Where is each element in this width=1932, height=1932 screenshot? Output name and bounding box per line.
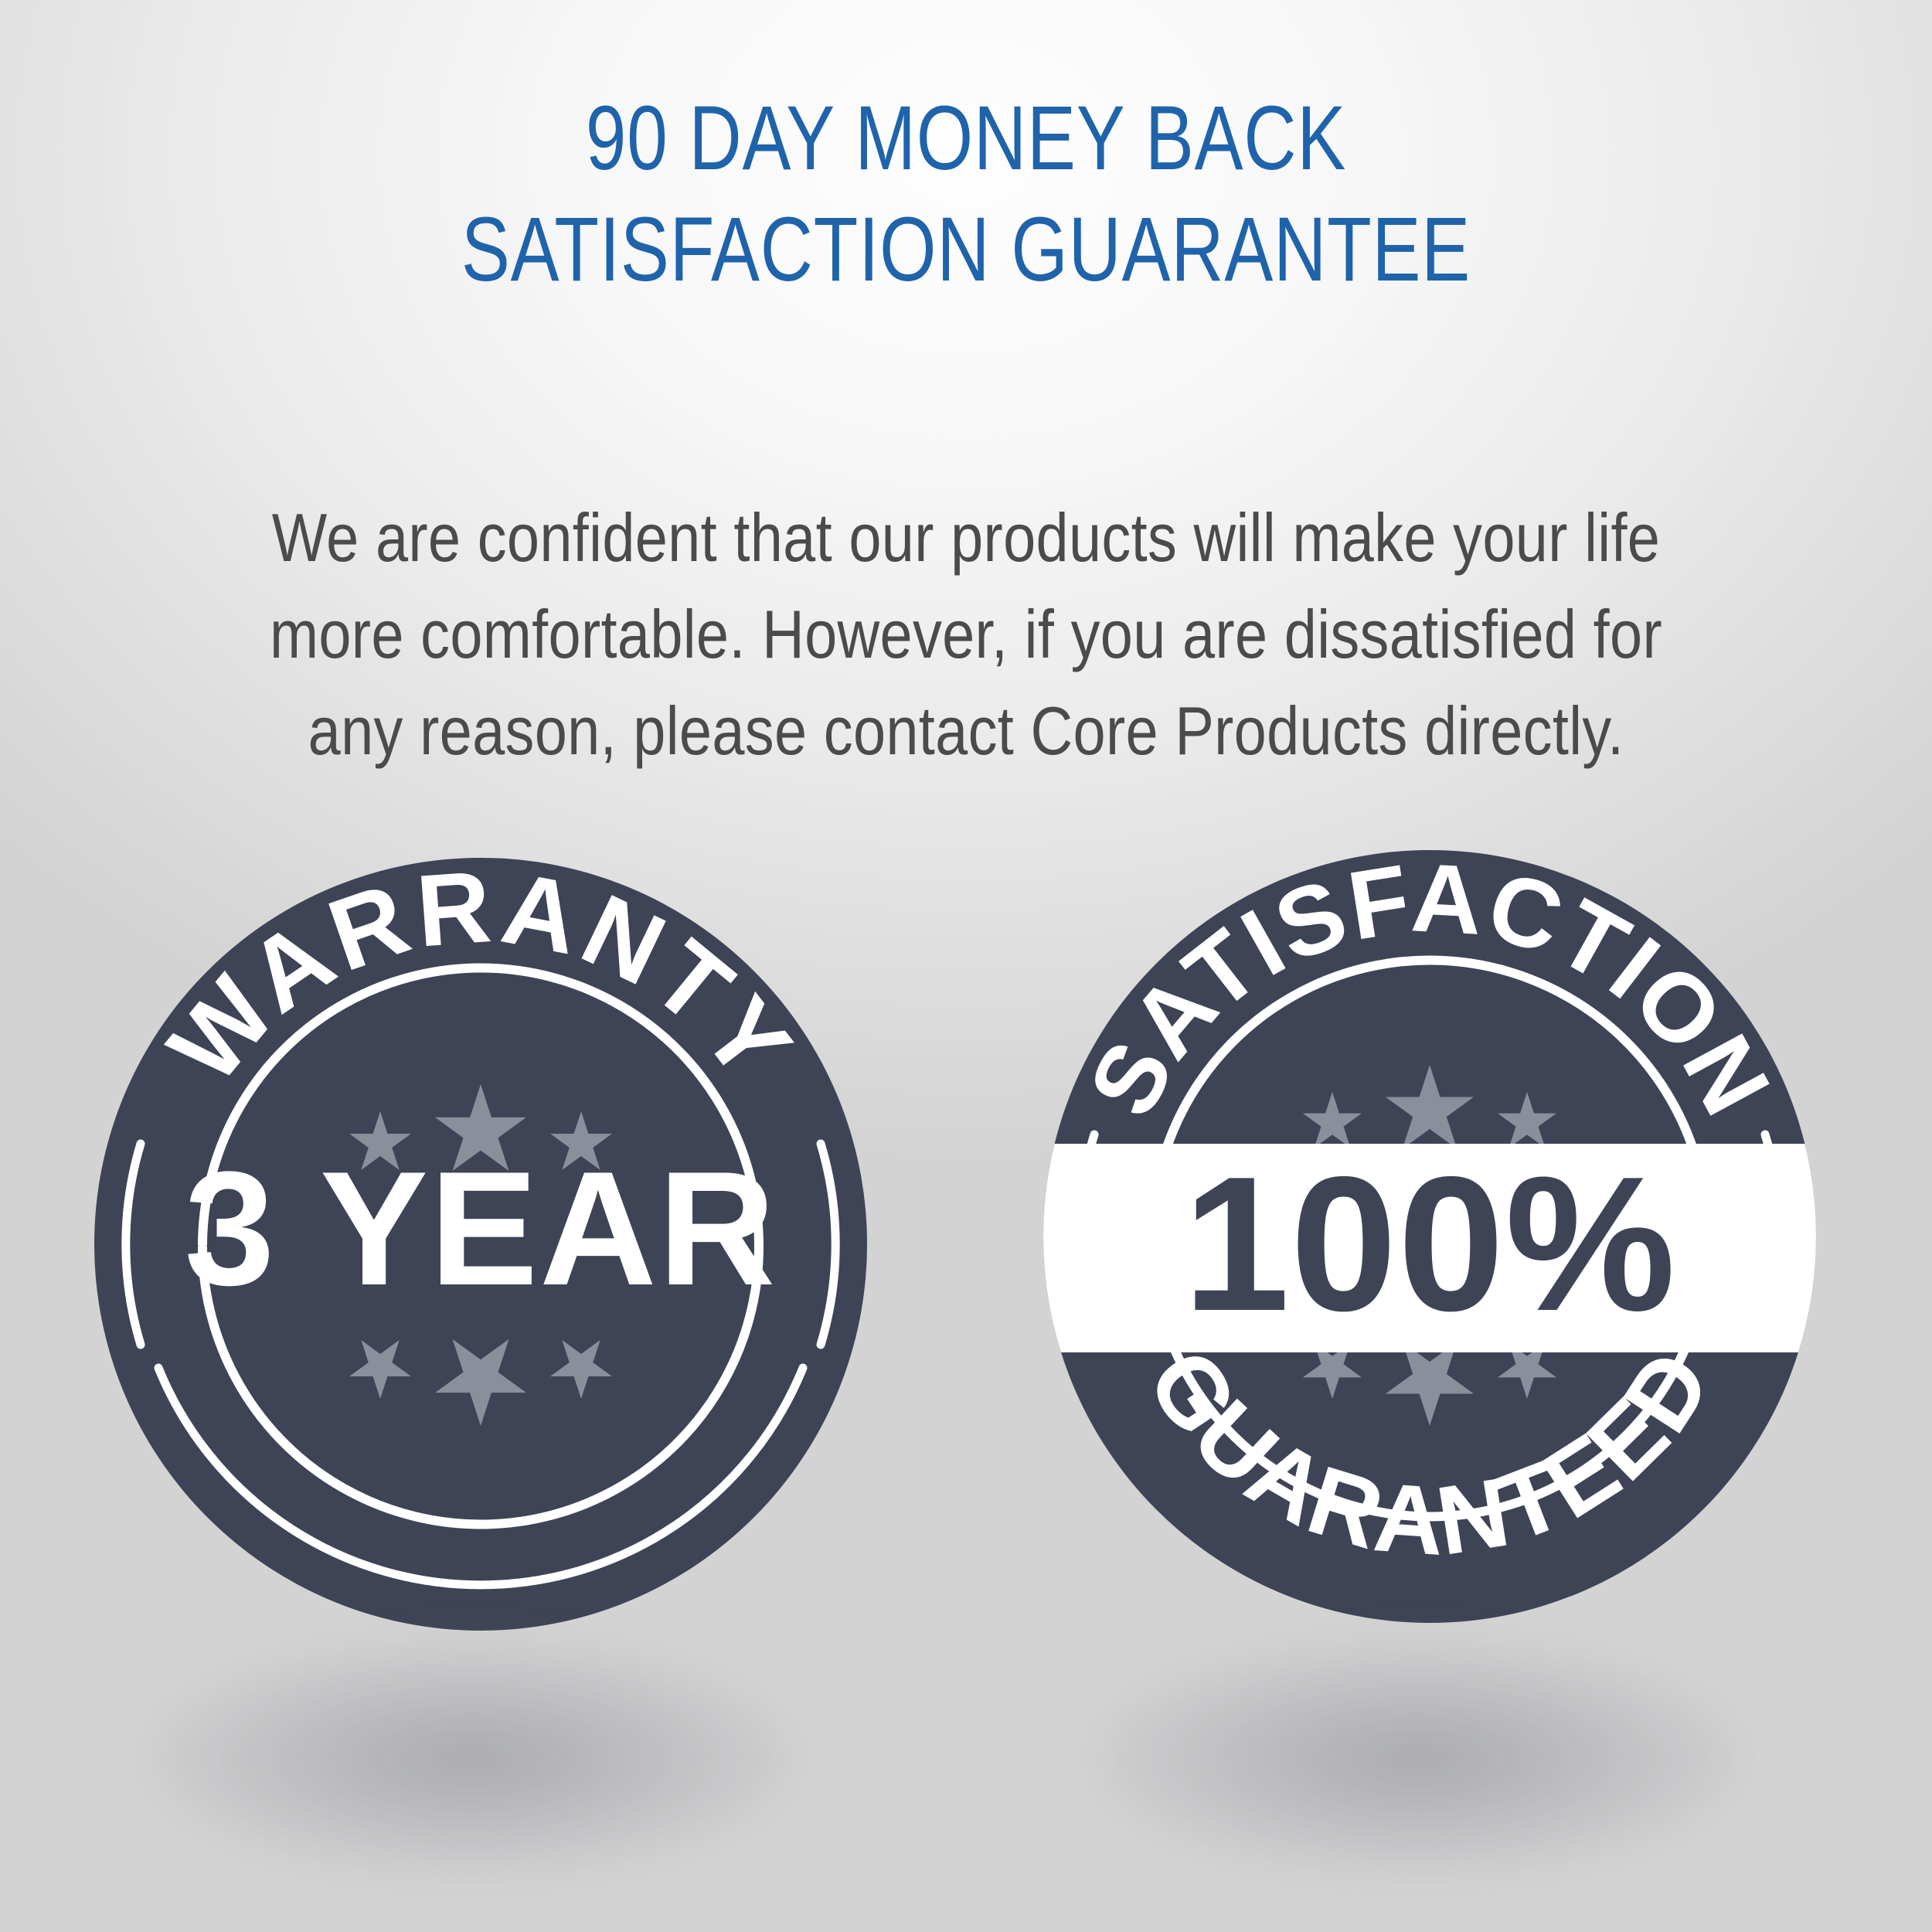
satisfaction-badge: 100% SATISFACTION GUARANTEED — [1020, 827, 1839, 1646]
headline-line-1: 90 DAY MONEY BACK — [193, 83, 1739, 195]
warranty-center-label: 3 YEAR — [185, 1138, 777, 1319]
seal-badge-icon: WARRANTY 3 YEAR — [71, 835, 890, 1654]
body-paragraph: We are confident that our products will … — [261, 490, 1670, 780]
warranty-badge: WARRANTY 3 YEAR — [71, 835, 890, 1654]
satisfaction-center-label: 100% — [1183, 1136, 1676, 1351]
headline-line-2: SATISFACTION GUARANTEE — [193, 195, 1739, 306]
promo-canvas: 90 DAY MONEY BACK SATISFACTION GUARANTEE… — [0, 0, 1932, 1932]
badge-row: WARRANTY 3 YEAR — [0, 827, 1932, 1692]
seal-badge-icon: 100% SATISFACTION GUARANTEED — [1020, 827, 1839, 1646]
page-title: 90 DAY MONEY BACK SATISFACTION GUARANTEE — [193, 83, 1739, 306]
